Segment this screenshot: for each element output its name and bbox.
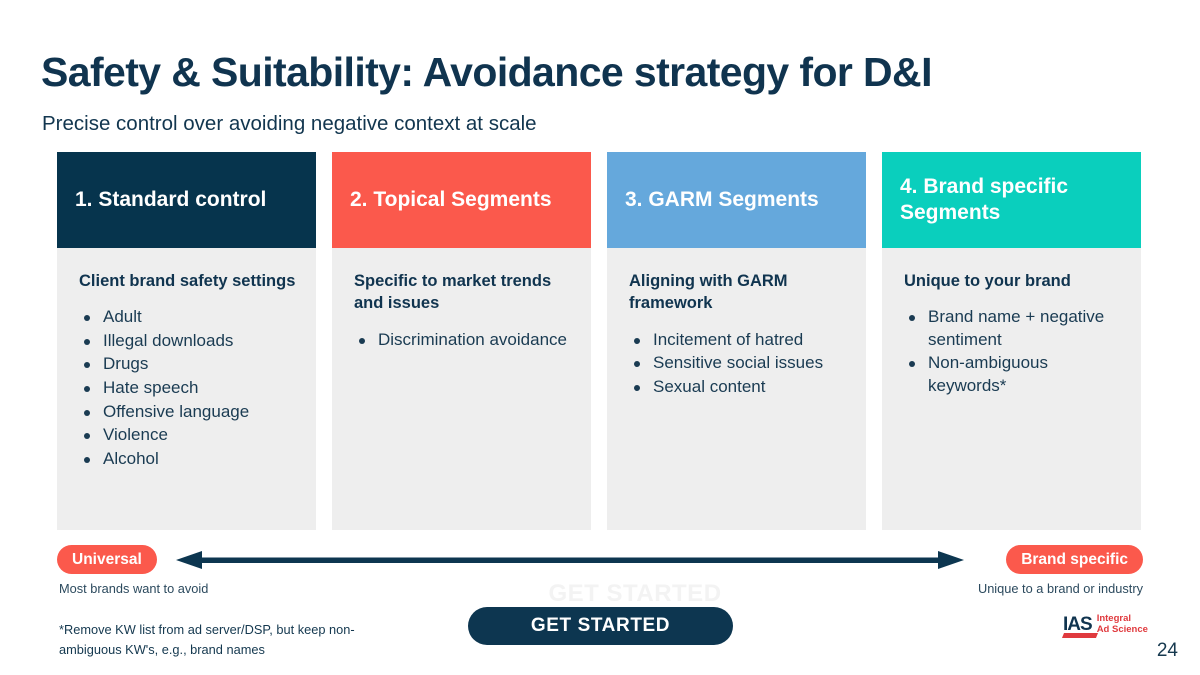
double-headed-arrow-icon (176, 551, 964, 569)
logo-slash-icon (1062, 633, 1098, 638)
column-group: 1. Standard control Client brand safety … (57, 152, 1143, 530)
list-item: Violence (79, 424, 298, 447)
list-item: Sexual content (629, 376, 848, 399)
column-header-3: 3. GARM Segments (607, 152, 866, 248)
list-item: Drugs (79, 353, 298, 376)
column-garm-segments: 3. GARM Segments Aligning with GARM fram… (607, 152, 866, 530)
column-list-1: Adult Illegal downloads Drugs Hate speec… (79, 306, 298, 470)
column-standard-control: 1. Standard control Client brand safety … (57, 152, 316, 530)
ias-logo: IAS Integral Ad Science (1063, 614, 1148, 635)
column-body-3: Aligning with GARM framework Incitement … (607, 248, 866, 530)
list-item: Sensitive social issues (629, 352, 848, 375)
page-title: Safety & Suitability: Avoidance strategy… (41, 48, 932, 96)
column-list-3: Incitement of hatred Sensitive social is… (629, 329, 848, 399)
logo-wordmark-line2: Ad Science (1097, 625, 1148, 636)
column-brand-specific-segments: 4. Brand specific Segments Unique to you… (882, 152, 1141, 530)
list-item: Offensive language (79, 401, 298, 424)
column-topical-segments: 2. Topical Segments Specific to market t… (332, 152, 591, 530)
column-subtitle-1: Client brand safety settings (79, 270, 298, 292)
column-header-4: 4. Brand specific Segments (882, 152, 1141, 248)
spectrum-row: Universal Brand specific Most brands wan… (0, 545, 1200, 601)
list-item: Alcohol (79, 448, 298, 471)
list-item: Brand name + negative sentiment (904, 306, 1123, 351)
column-body-4: Unique to your brand Brand name + negati… (882, 248, 1141, 530)
column-subtitle-4: Unique to your brand (904, 270, 1123, 292)
brand-specific-pill: Brand specific (1006, 545, 1143, 574)
logo-wordmark: Integral Ad Science (1097, 614, 1148, 635)
column-body-2: Specific to market trends and issues Dis… (332, 248, 591, 530)
universal-pill: Universal (57, 545, 157, 574)
column-list-4: Brand name + negative sentiment Non-ambi… (904, 306, 1123, 397)
list-item: Discrimination avoidance (354, 329, 573, 352)
slide: Safety & Suitability: Avoidance strategy… (0, 0, 1200, 675)
column-header-1: 1. Standard control (57, 152, 316, 248)
list-item: Illegal downloads (79, 330, 298, 353)
footnote: *Remove KW list from ad server/DSP, but … (59, 620, 389, 660)
spectrum-caption-right: Unique to a brand or industry (978, 581, 1143, 596)
page-number: 24 (1157, 640, 1178, 662)
list-item: Hate speech (79, 377, 298, 400)
page-subtitle: Precise control over avoiding negative c… (42, 112, 537, 136)
logo-mark-text: IAS (1063, 614, 1092, 635)
column-list-2: Discrimination avoidance (354, 329, 573, 352)
spectrum-caption-left: Most brands want to avoid (59, 581, 208, 596)
column-subtitle-2: Specific to market trends and issues (354, 270, 573, 315)
column-body-1: Client brand safety settings Adult Illeg… (57, 248, 316, 530)
column-header-2: 2. Topical Segments (332, 152, 591, 248)
get-started-button[interactable]: GET STARTED (468, 607, 733, 645)
list-item: Incitement of hatred (629, 329, 848, 352)
column-subtitle-3: Aligning with GARM framework (629, 270, 848, 315)
list-item: Non-ambiguous keywords* (904, 352, 1123, 397)
logo-mark: IAS (1063, 615, 1092, 634)
list-item: Adult (79, 306, 298, 329)
